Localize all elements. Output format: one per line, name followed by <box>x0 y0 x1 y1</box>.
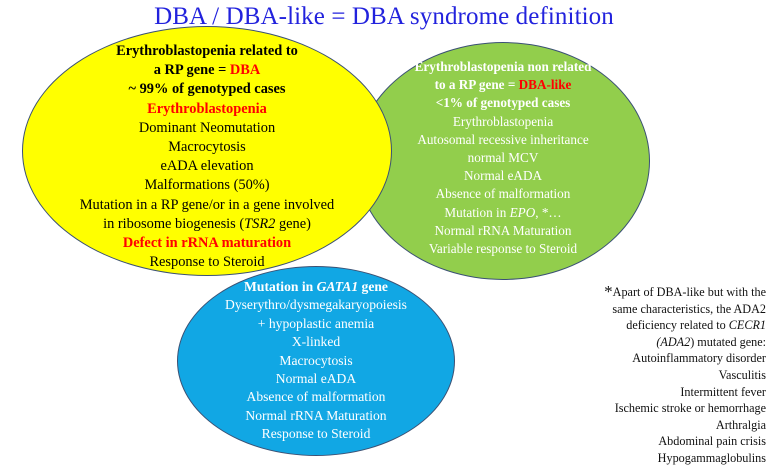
yellow-response: Response to Steroid <box>22 253 392 272</box>
yellow-item: eADA elevation <box>22 157 392 176</box>
yellow-header-line2: a RP gene = DBA <box>22 61 392 80</box>
blue-item: Response to Steroid <box>177 425 455 443</box>
green-header-line2-prefix: to a RP gene = <box>435 77 519 92</box>
yellow-mutation-line1: Mutation in a RP gene/or in a gene invol… <box>22 196 392 215</box>
green-item: Normal rRNA Maturation <box>356 222 650 240</box>
blue-header-line: Mutation in GATA1 gene <box>177 278 455 296</box>
yellow-mutation-suffix: gene) <box>275 216 311 232</box>
green-mutation-line: Mutation in EPO, *… <box>356 204 650 222</box>
page-title: DBA / DBA-like = DBA syndrome definition <box>0 2 768 32</box>
green-item: Normal eADA <box>356 167 650 185</box>
green-mutation-prefix: Mutation in <box>444 205 509 220</box>
green-item: Variable response to Steroid <box>356 240 650 258</box>
blue-item: X-linked <box>177 333 455 351</box>
footnote-asterisk-marker: * <box>604 282 613 301</box>
green-ellipse-text: Erythroblastopenia non related to a RP g… <box>356 58 650 258</box>
footnote-block: *Apart of DBA-like but with the same cha… <box>588 284 766 467</box>
footnote-item: Abdominal pain crisis <box>588 433 766 450</box>
green-header-line3: <1% of genotyped cases <box>356 94 650 112</box>
footnote-intro-end: ) mutated gene: <box>690 335 766 349</box>
yellow-item: Malformations (50%) <box>22 176 392 195</box>
blue-item: Dyserythro/dysmegakaryopoiesis <box>177 296 455 314</box>
blue-ellipse-text: Mutation in GATA1 gene Dyserythro/dysmeg… <box>177 278 455 444</box>
footnote-item: Autoinflammatory disorder <box>588 350 766 367</box>
blue-item: Normal rRNA Maturation <box>177 407 455 425</box>
green-item: normal MCV <box>356 149 650 167</box>
blue-item: Normal eADA <box>177 370 455 388</box>
yellow-header-line3: ~ 99% of genotyped cases <box>22 80 392 99</box>
blue-item: Macrocytosis <box>177 352 455 370</box>
green-gene-epo: EPO <box>510 205 536 220</box>
green-header-accent-dba-like: DBA-like <box>519 77 572 92</box>
footnote-item: Arthralgia <box>588 417 766 434</box>
yellow-mutation-prefix: in ribosome biogenesis ( <box>103 216 244 232</box>
green-header-line2: to a RP gene = DBA-like <box>356 76 650 94</box>
diagram-canvas: DBA / DBA-like = DBA syndrome definition… <box>0 0 768 472</box>
footnote-item: Ischemic stroke or hemorrhage <box>588 400 766 417</box>
blue-item: Absence of malformation <box>177 388 455 406</box>
footnote-intro: *Apart of DBA-like but with the same cha… <box>588 284 766 350</box>
green-header-line1: Erythroblastopenia non related <box>356 58 650 76</box>
yellow-header-line1: Erythroblastopenia related to <box>22 42 392 61</box>
yellow-gene-tsr2: TSR2 <box>244 216 275 232</box>
yellow-header-accent-dba: DBA <box>230 62 260 78</box>
yellow-ellipse-text: Erythroblastopenia related to a RP gene … <box>22 42 392 272</box>
green-mutation-suffix: , *… <box>535 205 561 220</box>
yellow-item: Macrocytosis <box>22 138 392 157</box>
footnote-gene-ada2: ADA2 <box>660 335 690 349</box>
footnote-item: Intermittent fever <box>588 384 766 401</box>
green-item: Autosomal recessive inheritance <box>356 131 650 149</box>
footnote-item: Vasculitis <box>588 367 766 384</box>
blue-gene-gata1: GATA1 <box>317 279 359 294</box>
yellow-accent-defect: Defect in rRNA maturation <box>22 234 392 253</box>
green-item: Erythroblastopenia <box>356 113 650 131</box>
footnote-gene-cecr1: CECR1 <box>729 318 766 332</box>
blue-item: + hypoplastic anemia <box>177 315 455 333</box>
yellow-header-line2-prefix: a RP gene = <box>154 62 230 78</box>
yellow-header-accent-erythroblastopenia: Erythroblastopenia <box>22 100 392 119</box>
yellow-mutation-line2: in ribosome biogenesis (TSR2 gene) <box>22 215 392 234</box>
footnote-item: Hypogammaglobulins <box>588 450 766 467</box>
yellow-item: Dominant Neomutation <box>22 119 392 138</box>
blue-header-prefix: Mutation in <box>244 279 317 294</box>
blue-header-suffix: gene <box>358 279 388 294</box>
green-item: Absence of malformation <box>356 185 650 203</box>
